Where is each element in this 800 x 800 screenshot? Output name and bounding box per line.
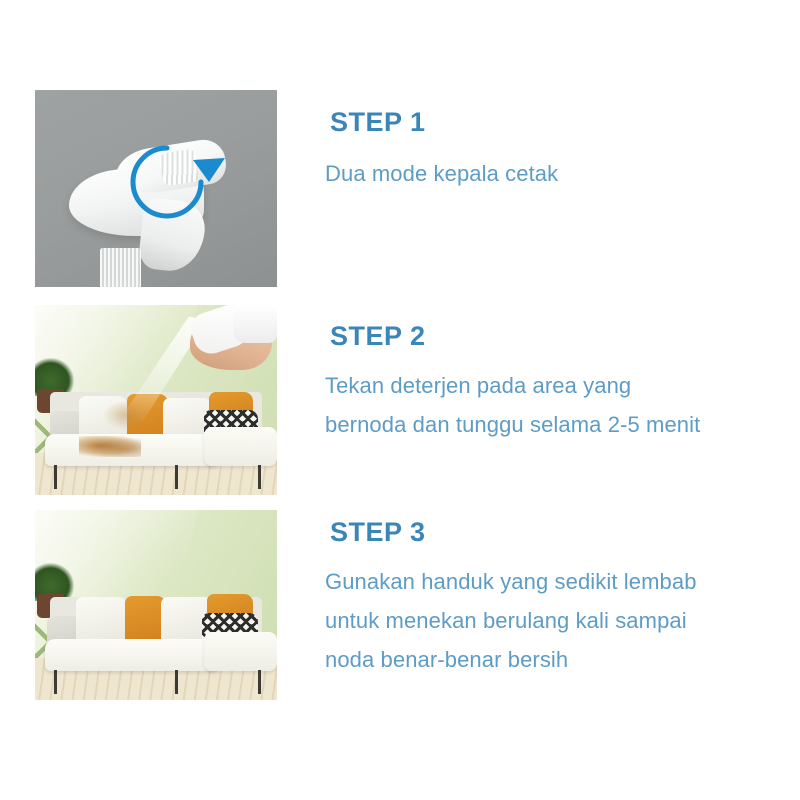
sofa-leg-2 xyxy=(175,465,178,490)
sofa-chaise xyxy=(204,632,277,672)
step-3-description: Gunakan handuk yang sedikit lembab untuk… xyxy=(325,562,775,679)
step-3-line-3: noda benar-benar bersih xyxy=(325,640,775,679)
sleeve xyxy=(233,305,277,343)
step-2-title: STEP 2 xyxy=(330,322,775,350)
step-3-text: STEP 3 Gunakan handuk yang sedikit lemba… xyxy=(325,518,775,679)
spray-nozzle-photo xyxy=(35,90,277,287)
step-3-line-1: Gunakan handuk yang sedikit lembab xyxy=(325,562,775,601)
clean-sofa-photo xyxy=(35,510,277,700)
sofa-leg-3 xyxy=(258,465,261,490)
step-1-line-1: Dua mode kepala cetak xyxy=(325,154,775,193)
step-2-line-2: bernoda dan tunggu selama 2-5 menit xyxy=(325,405,775,444)
sofa-leg-1 xyxy=(54,465,57,490)
sofa-leg-3 xyxy=(258,670,261,695)
sofa-seat-cushion xyxy=(45,639,219,671)
step-2-text: STEP 2 Tekan deterjen pada area yang ber… xyxy=(325,322,775,444)
sofa-chaise xyxy=(204,427,277,467)
step-2-line-1: Tekan deterjen pada area yang xyxy=(325,366,775,405)
step-2-image xyxy=(35,305,277,495)
step-1-image xyxy=(35,90,277,287)
step-1-title: STEP 1 xyxy=(330,108,775,136)
rotation-arrow-icon xyxy=(35,90,277,287)
instruction-infographic: STEP 1 Dua mode kepala cetak xyxy=(0,0,800,800)
step-2-description: Tekan deterjen pada area yang bernoda da… xyxy=(325,366,775,444)
step-3-title: STEP 3 xyxy=(330,518,775,546)
step-1-text: STEP 1 Dua mode kepala cetak xyxy=(325,108,775,193)
stained-sofa-spraying-photo xyxy=(35,305,277,495)
step-1-description: Dua mode kepala cetak xyxy=(325,154,775,193)
sofa-leg-1 xyxy=(54,670,57,695)
step-3-image xyxy=(35,510,277,700)
stain-seat xyxy=(79,436,142,457)
sofa-leg-2 xyxy=(175,670,178,695)
step-3-line-2: untuk menekan berulang kali sampai xyxy=(325,601,775,640)
